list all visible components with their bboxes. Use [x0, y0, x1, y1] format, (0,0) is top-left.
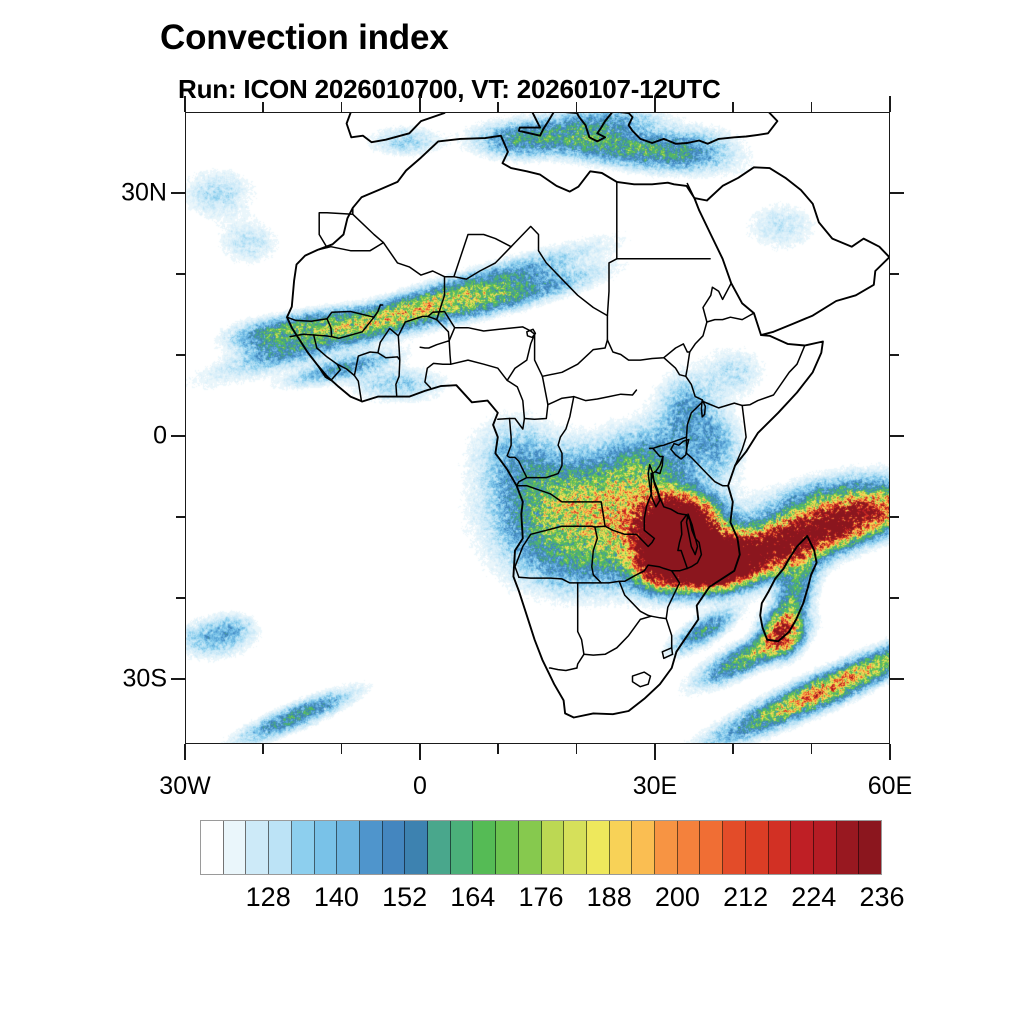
map-clip	[186, 113, 889, 743]
axis-tick	[341, 744, 343, 754]
axis-tick	[176, 516, 185, 518]
axis-tick	[890, 435, 904, 437]
colorbar-cell	[201, 821, 224, 874]
axis-tick	[262, 744, 264, 754]
axis-tick	[184, 744, 186, 760]
colorbar-cell	[405, 821, 428, 874]
colorbar-cell	[564, 821, 587, 874]
colorbar-cell	[360, 821, 383, 874]
coastlines-and-borders	[186, 113, 889, 743]
axis-tick	[262, 102, 264, 112]
colorbar-cell	[383, 821, 406, 874]
colorbar-cell	[837, 821, 860, 874]
axis-tick	[497, 744, 499, 754]
axis-tick	[890, 192, 904, 194]
axis-tick	[890, 678, 904, 680]
colorbar-cell	[246, 821, 269, 874]
colorbar-cell	[746, 821, 769, 874]
colorbar-cell	[224, 821, 247, 874]
colorbar-cell	[723, 821, 746, 874]
colorbar-cell	[587, 821, 610, 874]
colorbar-cell	[315, 821, 338, 874]
x-axis-label: 0	[360, 772, 480, 801]
axis-tick	[890, 597, 899, 599]
colorbar-cell	[700, 821, 723, 874]
x-axis-label: 60E	[830, 772, 950, 801]
colorbar-cell	[542, 821, 565, 874]
x-axis-label: 30W	[125, 772, 245, 801]
axis-tick	[889, 744, 891, 760]
y-axis-label: 30S	[77, 665, 167, 694]
x-axis-label: 30E	[595, 772, 715, 801]
axis-tick	[341, 102, 343, 112]
axis-tick	[732, 102, 734, 112]
colorbar-cell	[496, 821, 519, 874]
colorbar-cell	[269, 821, 292, 874]
axis-tick	[184, 96, 186, 112]
axis-tick	[811, 744, 813, 754]
colorbar-cell	[791, 821, 814, 874]
y-axis-label: 0	[77, 422, 167, 451]
axis-tick	[890, 273, 899, 275]
colorbar	[200, 820, 882, 875]
axis-tick	[419, 744, 421, 760]
axis-tick	[654, 96, 656, 112]
colorbar-cell	[859, 821, 881, 874]
run-valid-time-subtitle: Run: ICON 2026010700, VT: 20260107-12UTC	[178, 74, 721, 105]
colorbar-cell	[610, 821, 633, 874]
axis-tick	[811, 102, 813, 112]
colorbar-cell	[632, 821, 655, 874]
colorbar-cell	[473, 821, 496, 874]
colorbar-cell	[519, 821, 542, 874]
axis-tick	[176, 273, 185, 275]
axis-tick	[732, 744, 734, 754]
axis-tick	[890, 516, 899, 518]
axis-tick	[889, 96, 891, 112]
axis-tick	[497, 102, 499, 112]
axis-tick	[576, 744, 578, 754]
axis-tick	[171, 192, 185, 194]
axis-tick	[171, 435, 185, 437]
map-plot-area	[185, 112, 890, 744]
axis-tick	[419, 96, 421, 112]
colorbar-cell	[337, 821, 360, 874]
colorbar-cell	[292, 821, 315, 874]
colorbar-cell	[769, 821, 792, 874]
colorbar-tick-label: 236	[827, 882, 937, 913]
colorbar-cell	[428, 821, 451, 874]
axis-tick	[176, 597, 185, 599]
colorbar-cell	[814, 821, 837, 874]
axis-tick	[576, 102, 578, 112]
page-title: Convection index	[160, 18, 449, 58]
axis-tick	[890, 354, 899, 356]
colorbar-cell	[655, 821, 678, 874]
colorbar-cell	[678, 821, 701, 874]
axis-tick	[654, 744, 656, 760]
y-axis-label: 30N	[77, 179, 167, 208]
colorbar-cell	[451, 821, 474, 874]
axis-tick	[176, 354, 185, 356]
axis-tick	[171, 678, 185, 680]
